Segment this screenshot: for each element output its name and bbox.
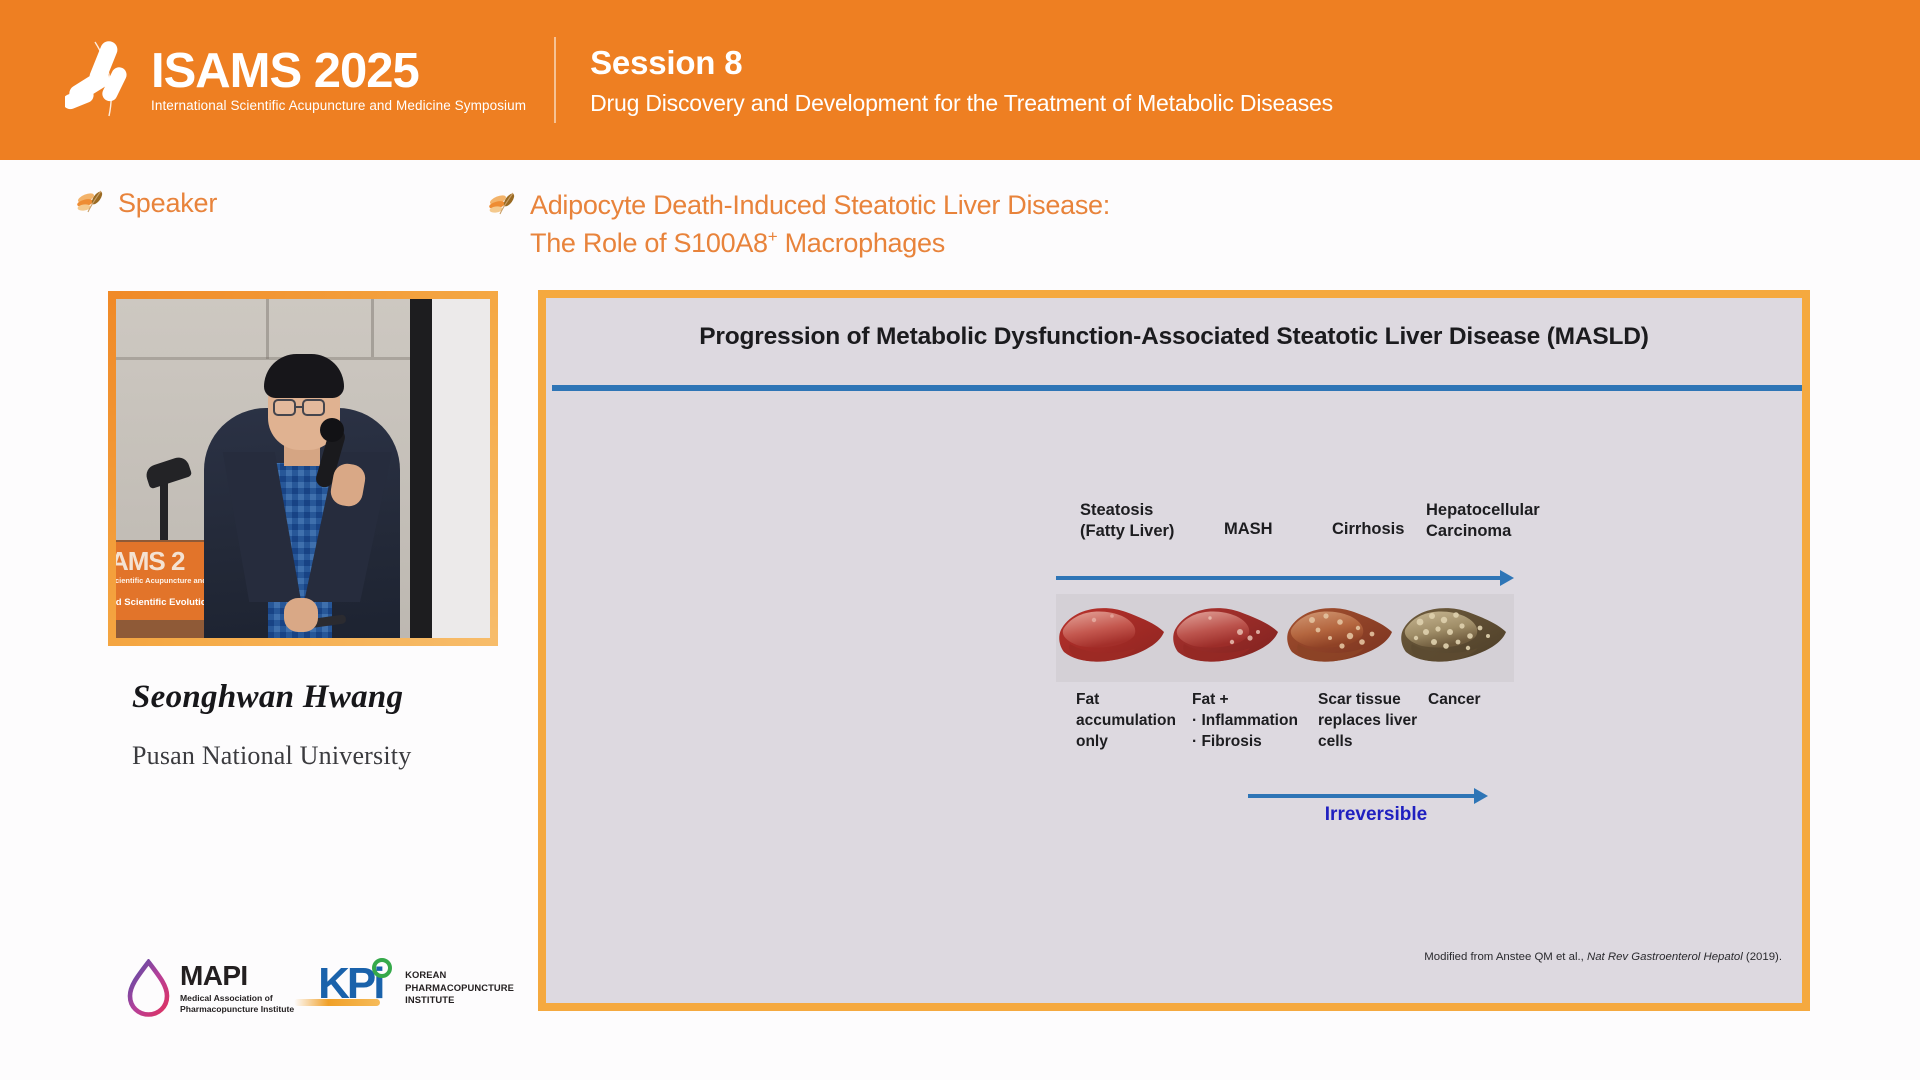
isams-logo: ISAMS 2025 International Scientific Acup… [65,38,526,122]
desc-line: cells [1318,732,1438,753]
slide-title-rule [552,385,1802,391]
mapi-desc-line1: Medical Association of [180,993,294,1003]
talk-title-line2-main: The Role of S100A8 [530,228,768,258]
stage-label-line2: Carcinoma [1426,521,1566,542]
desc-line: Cancer [1428,690,1538,711]
desc-line: Scar tissue [1318,690,1438,711]
desc-line: · Fibrosis [1192,732,1322,753]
desc-line: replaces liver [1318,711,1438,732]
stage-description-row: Fat accumulation only Fat + · Inflammati… [1056,690,1636,785]
desc-line: accumulation [1076,711,1196,732]
citation-suffix: (2019). [1743,951,1782,963]
microphone-stand-head [144,455,193,490]
progression-arrow [1056,570,1516,586]
kpi-logo: KPi KOREAN PHARMACOPUNCTURE INSTITUTE [318,962,514,1014]
acupuncture-needles-icon [65,38,147,122]
session-block: Session 8 Drug Discovery and Development… [590,43,1333,120]
speaker-photo: AMS 2 Scientific Acupuncture and M nd Sc… [108,291,498,646]
talk-title-superscript: + [768,227,778,246]
stage-label-line1: Steatosis [1080,500,1210,521]
citation-prefix: Modified from Anstee QM et al., [1424,951,1587,963]
kpi-wordmark: KPi [318,962,398,1014]
slide-content-panel: Progression of Metabolic Dysfunction-Ass… [538,290,1810,1011]
kpi-desc-line1: KOREAN [405,969,514,981]
talk-title: Adipocyte Death-Induced Steatotic Liver … [530,186,1110,263]
stage-label-row: Steatosis (Fatty Liver) MASH Cirrhosis H… [1056,498,1636,568]
masld-progression-diagram: Steatosis (Fatty Liver) MASH Cirrhosis H… [1056,498,1636,918]
irreversible-label: Irreversible [1266,804,1486,826]
header-bar: ISAMS 2025 International Scientific Acup… [0,0,1920,160]
mapi-desc-line2: Pharmacopuncture Institute [180,1004,294,1014]
speaker-label-text: Speaker [118,188,217,219]
kpi-desc-line2: PHARMACOPUNCTURE [405,982,514,994]
projection-screen [432,299,490,638]
podium-banner-line3: nd Scientific Evolution [116,597,212,608]
liver-illustration-steatosis [1056,598,1170,678]
stage-label-hcc: Hepatocellular Carcinoma [1426,500,1566,542]
stage-description-cirrhosis: Scar tissue replaces liver cells [1318,690,1438,753]
kpi-desc-line3: INSTITUTE [405,994,514,1006]
sponsor-logos: MAPI Medical Association of Pharmacopunc… [126,959,514,1017]
talk-title-line2-tail: Macrophages [777,228,945,258]
slide-citation: Modified from Anstee QM et al., Nat Rev … [546,951,1802,963]
water-drop-icon [126,959,171,1017]
speaker-name: Seonghwan Hwang [132,679,472,716]
mapi-name: MAPI [180,962,294,990]
speaker-section-label: Speaker [76,188,217,219]
liver-illustration-hcc [1398,598,1512,678]
desc-line: Fat + [1192,690,1322,711]
stage-label-line1: MASH [1224,519,1334,540]
speaker-photo-image: AMS 2 Scientific Acupuncture and M nd Sc… [116,299,490,638]
logo-title: ISAMS 2025 [151,47,419,97]
bee-icon [488,191,518,220]
talk-title-block: Adipocyte Death-Induced Steatotic Liver … [488,186,1110,263]
stage-label-line2: (Fatty Liver) [1080,521,1210,542]
desc-line: Fat [1076,690,1196,711]
liver-illustration-strip [1056,594,1514,682]
presentation-slide: ISAMS 2025 International Scientific Acup… [0,0,1920,1080]
citation-journal: Nat Rev Gastroenterol Hepatol [1587,951,1743,963]
desc-line: only [1076,732,1196,753]
stage-description-mash: Fat + · Inflammation · Fibrosis [1192,690,1322,753]
bee-icon [76,189,106,218]
session-topic: Drug Discovery and Development for the T… [590,88,1333,119]
stage-description-steatosis: Fat accumulation only [1076,690,1196,753]
session-name: Session 8 [590,43,1333,83]
slide-title: Progression of Metabolic Dysfunction-Ass… [546,323,1802,351]
stage-label-steatosis: Steatosis (Fatty Liver) [1080,500,1210,542]
kpi-ring-icon [372,958,392,978]
irreversible-arrow [1248,788,1488,804]
door-strip [410,299,432,638]
liver-illustration-mash [1170,598,1284,678]
podium-banner-line1: AMS 2 [116,546,184,577]
header-divider [554,37,556,123]
talk-title-line2: The Role of S100A8+ Macrophages [530,224,1110,262]
speaker-affiliation: Pusan National University [132,741,492,771]
mapi-logo: MAPI Medical Association of Pharmacopunc… [126,959,294,1017]
talk-title-line1: Adipocyte Death-Induced Steatotic Liver … [530,186,1110,224]
logo-subtitle: International Scientific Acupuncture and… [151,98,526,113]
podium-banner-line2: Scientific Acupuncture and M [116,576,215,585]
desc-line: · Inflammation [1192,711,1322,732]
liver-illustration-cirrhosis [1284,598,1398,678]
stage-label-line1: Hepatocellular [1426,500,1566,521]
stage-description-hcc: Cancer [1428,690,1538,711]
stage-label-mash: MASH [1224,519,1334,540]
